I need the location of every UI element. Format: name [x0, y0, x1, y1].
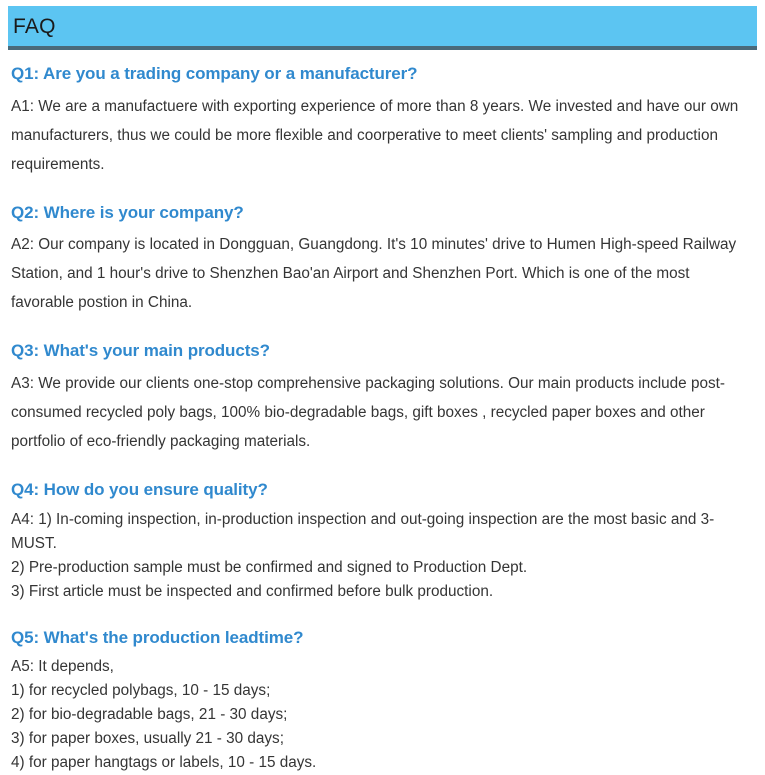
faq-item-q5: Q5: What's the production leadtime? A5: …: [11, 626, 753, 775]
faq-question-q5: Q5: What's the production leadtime?: [11, 626, 753, 651]
faq-answer-line: 1) for recycled polybags, 10 - 15 days;: [11, 679, 753, 703]
faq-answer-line: 2) Pre-production sample must be confirm…: [11, 556, 753, 580]
faq-answer-q2: A2: Our company is located in Dongguan, …: [11, 230, 753, 317]
faq-banner-title: FAQ: [8, 16, 56, 37]
faq-answer-line: 3) First article must be inspected and c…: [11, 580, 753, 604]
faq-answer-line: A5: It depends,: [11, 655, 753, 679]
faq-answer-q5: A5: It depends, 1) for recycled polybags…: [11, 655, 753, 775]
faq-answer-q3: A3: We provide our clients one-stop comp…: [11, 369, 753, 456]
faq-answer-text-q2: A2: Our company is located in Dongguan, …: [11, 230, 753, 317]
faq-answer-q1: A1: We are a manufactuere with exporting…: [11, 92, 753, 179]
faq-answer-text-q3: A3: We provide our clients one-stop comp…: [11, 369, 753, 456]
faq-question-q4: Q4: How do you ensure quality?: [11, 478, 753, 503]
faq-question-q1: Q1: Are you a trading company or a manuf…: [11, 62, 753, 87]
faq-page: FAQ Q1: Are you a trading company or a m…: [0, 0, 765, 748]
faq-answer-text-q1: A1: We are a manufactuere with exporting…: [11, 92, 753, 179]
faq-item-q1: Q1: Are you a trading company or a manuf…: [11, 62, 753, 179]
faq-list: Q1: Are you a trading company or a manuf…: [11, 62, 753, 775]
faq-item-q2: Q2: Where is your company? A2: Our compa…: [11, 201, 753, 318]
faq-answer-line: 4) for paper hangtags or labels, 10 - 15…: [11, 751, 753, 775]
faq-answer-line: A4: 1) In-coming inspection, in-producti…: [11, 508, 753, 556]
faq-banner: FAQ: [8, 6, 757, 50]
faq-question-q3: Q3: What's your main products?: [11, 339, 753, 364]
faq-question-q2: Q2: Where is your company?: [11, 201, 753, 226]
faq-answer-line: 2) for bio-degradable bags, 21 - 30 days…: [11, 703, 753, 727]
faq-item-q3: Q3: What's your main products? A3: We pr…: [11, 339, 753, 456]
faq-answer-q4: A4: 1) In-coming inspection, in-producti…: [11, 508, 753, 604]
faq-item-q4: Q4: How do you ensure quality? A4: 1) In…: [11, 478, 753, 604]
